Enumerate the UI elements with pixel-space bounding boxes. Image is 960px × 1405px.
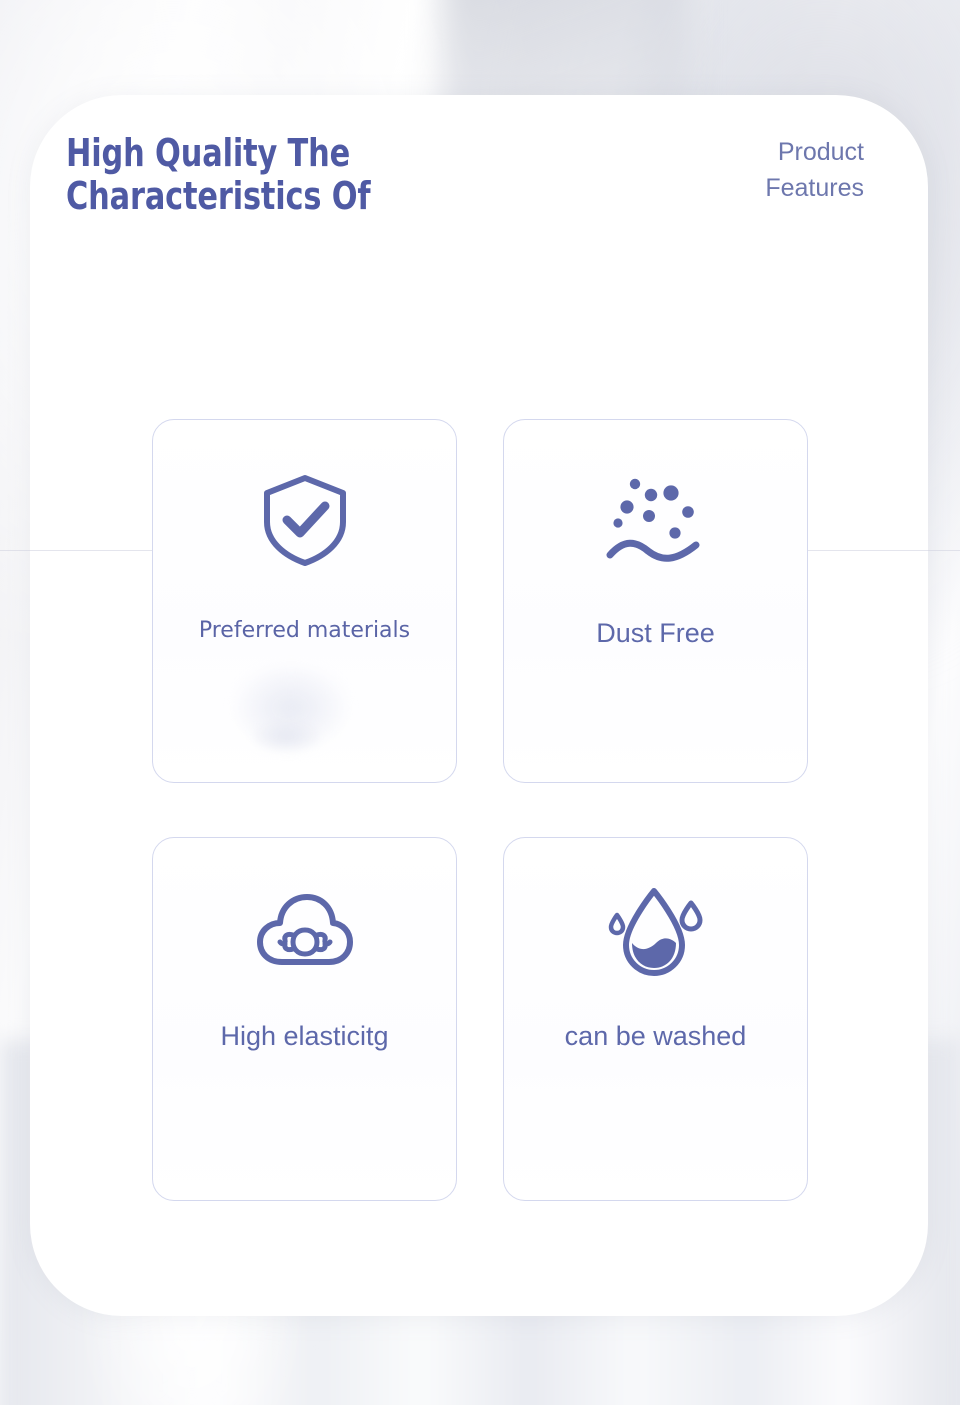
page-title: High Quality The Characteristics Of	[66, 130, 442, 219]
icon-container	[153, 838, 456, 1023]
watermark-ghost-shape-2	[249, 720, 323, 754]
feature-label: Dust Free	[596, 620, 715, 647]
feature-card-preferred-materials[interactable]: Preferred materials	[152, 419, 457, 783]
icon-container	[504, 420, 807, 620]
dust-particles-wave-icon	[604, 471, 708, 569]
feature-card-dust-free[interactable]: Dust Free	[503, 419, 808, 783]
feature-label: Preferred materials	[199, 620, 410, 642]
cloud-spring-icon	[255, 892, 355, 970]
feature-label: can be washed	[565, 1023, 747, 1050]
feature-card-can-be-washed[interactable]: can be washed	[503, 837, 808, 1201]
section-eyebrow: Product Features	[765, 130, 866, 207]
section-header: High Quality The Characteristics Of Prod…	[66, 130, 866, 219]
feature-card-high-elasticity[interactable]: High elasticitg	[152, 837, 457, 1201]
water-droplet-icon	[606, 883, 706, 979]
shield-check-icon	[259, 472, 351, 568]
icon-container	[504, 838, 807, 1023]
feature-label: High elasticitg	[220, 1023, 388, 1050]
feature-grid: Preferred materials	[152, 419, 808, 1201]
icon-container	[153, 420, 456, 620]
page-stage: High Quality The Characteristics Of Prod…	[0, 0, 960, 1405]
